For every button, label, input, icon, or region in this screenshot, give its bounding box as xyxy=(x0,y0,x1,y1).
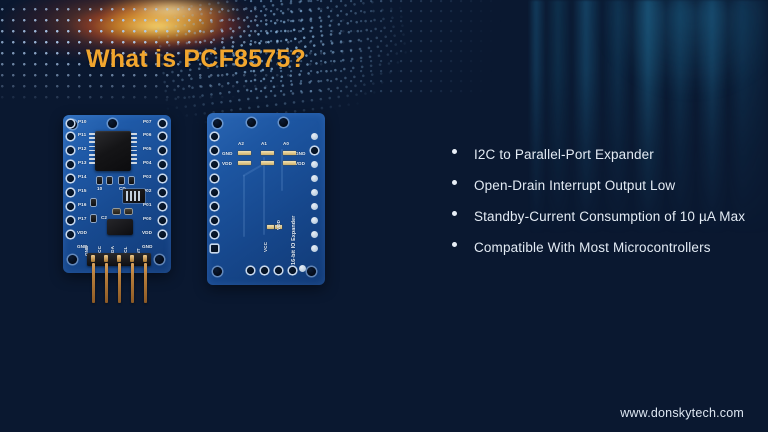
light-streak-glow xyxy=(568,0,768,150)
pcb-power-label: VCC xyxy=(263,242,268,252)
bullet-icon xyxy=(452,211,457,216)
list-item: Compatible With Most Microcontrollers xyxy=(452,235,752,261)
pcb-jumper-label: A1 xyxy=(261,141,267,146)
pcb-pin-label: P15 xyxy=(78,188,86,193)
pcb-jumper-row-label: GND xyxy=(295,151,306,156)
list-item-label: Open-Drain Interrupt Output Low xyxy=(474,173,675,199)
list-item-label: Compatible With Most Microcontrollers xyxy=(474,235,711,261)
pcb-pin-label: P13 xyxy=(78,160,86,165)
pcb-pin-label: P11 xyxy=(78,132,86,137)
pcb-pin-label: P14 xyxy=(78,174,86,179)
pcb-pin-label: GND xyxy=(142,244,153,249)
list-item: I2C to Parallel-Port Expander xyxy=(452,142,752,168)
list-item: Open-Drain Interrupt Output Low xyxy=(452,173,752,199)
small-ic xyxy=(123,189,145,203)
website-url: www.donskytech.com xyxy=(620,406,744,420)
pcb-pin-label: P03 xyxy=(143,174,151,179)
pcb-pin-label: P17 xyxy=(78,216,86,221)
pcb-mark-label: 10 xyxy=(97,186,102,191)
pcb-jumper-row-label: VDD xyxy=(222,161,232,166)
bullet-icon xyxy=(452,149,457,154)
pcb-pin-label: P05 xyxy=(143,146,151,151)
pcb-image-group: P10 P11 P12 P13 P14 P15 P16 P17 VDD GND … xyxy=(55,105,355,345)
pcb-pin-label: P16 xyxy=(78,202,86,207)
feature-list: I2C to Parallel-Port Expander Open-Drain… xyxy=(452,142,752,266)
pcb-pin-label: P06 xyxy=(143,132,151,137)
warm-glow-core-decoration xyxy=(60,0,280,50)
pcb-jumper-label: A0 xyxy=(283,141,289,146)
chip-pins-left xyxy=(89,133,95,169)
pcb-product-label: 16-bit IO Expander xyxy=(291,216,297,265)
pcb-front-board: P10 P11 P12 P13 P14 P15 P16 P17 VDD GND … xyxy=(63,115,171,273)
bullet-icon xyxy=(452,242,457,247)
pcb-pin-label: P04 xyxy=(143,160,151,165)
page-title: What is PCF8575? xyxy=(86,45,306,74)
pcb-pin-label: P00 xyxy=(143,216,151,221)
pcb-power-label: VDD xyxy=(276,220,281,230)
pcb-pin-label: VDD xyxy=(142,230,152,235)
chip-pins-right xyxy=(131,133,137,169)
list-item-label: I2C to Parallel-Port Expander xyxy=(474,142,654,168)
pcb-pin-label: P10 xyxy=(78,119,86,124)
bullet-icon xyxy=(452,180,457,185)
pcb-jumper-row-label: VDD xyxy=(295,161,305,166)
pcb-jumper-label: A2 xyxy=(238,141,244,146)
pcb-pin-label: P12 xyxy=(78,146,86,151)
pcb-pin-label: VDD xyxy=(77,230,87,235)
pcb-jumper-row-label: GND xyxy=(222,151,233,156)
pcf8575-chip xyxy=(95,131,131,171)
list-item: Standby-Current Consumption of 10 µA Max xyxy=(452,204,752,230)
pcb-pin-label: P07 xyxy=(143,119,151,124)
pcb-back-board: A2 A1 A0 GND VDD GND VDD VCC VDD 16-bit … xyxy=(207,113,325,285)
slide-canvas: What is PCF8575? xyxy=(0,0,768,432)
voltage-regulator xyxy=(107,219,133,235)
list-item-label: Standby-Current Consumption of 10 µA Max xyxy=(474,204,745,230)
